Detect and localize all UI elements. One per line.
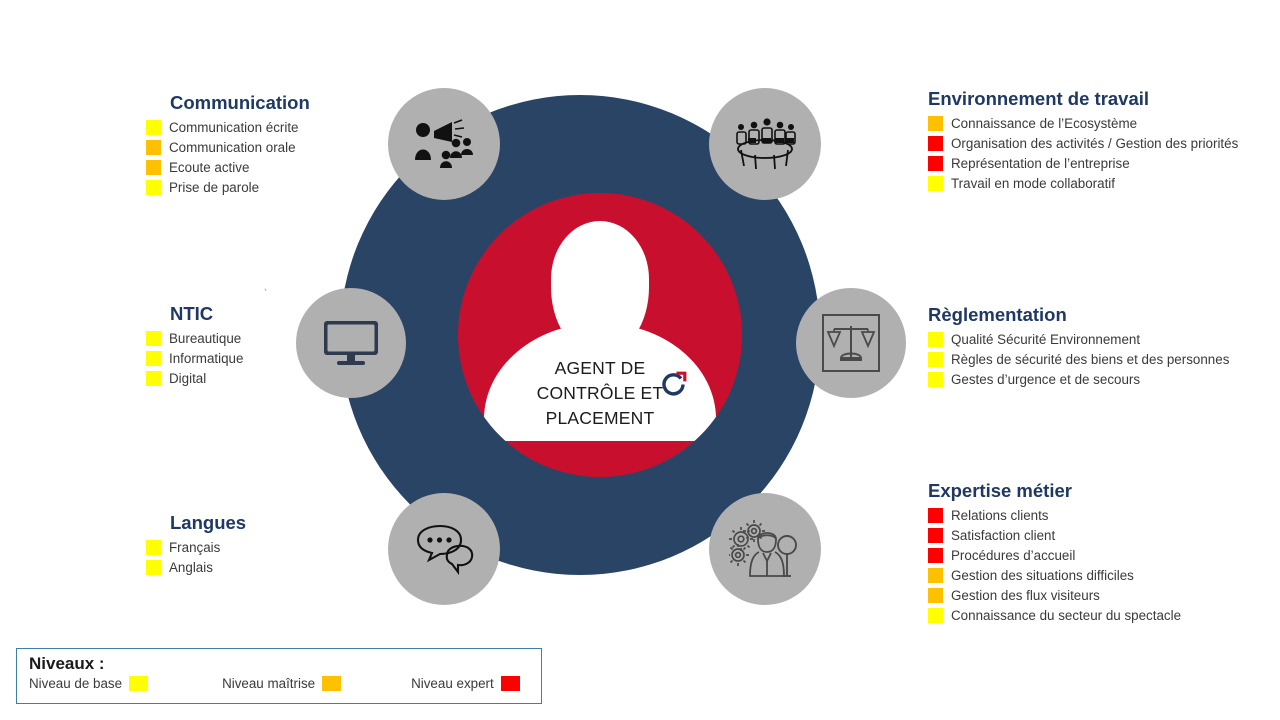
block-reglementation: Règlementation Qualité Sécurité Environn… [928, 304, 1229, 390]
skill-row: Communication écrite [146, 118, 310, 137]
level-swatch [146, 351, 161, 366]
legend-item-base: Niveau de base [29, 676, 148, 691]
node-ntic[interactable] [296, 288, 406, 398]
skill-row: Satisfaction client [928, 526, 1181, 545]
block-title-communication: Communication [170, 92, 310, 114]
skill-label: Gestes d’urgence et de secours [951, 372, 1140, 387]
level-swatch [146, 120, 161, 135]
level-swatch [146, 331, 161, 346]
level-swatch [322, 676, 341, 691]
skill-label: Gestion des situations difficiles [951, 568, 1134, 583]
meeting-table-icon [731, 116, 799, 172]
skill-row: Bureautique [146, 329, 243, 348]
skill-label: Représentation de l’entreprise [951, 156, 1130, 171]
legend-label: Niveau expert [411, 676, 494, 691]
node-environnement[interactable] [709, 88, 821, 200]
skill-row: Ecoute active [146, 158, 310, 177]
legend-item-expert: Niveau expert [411, 676, 520, 691]
level-swatch [928, 588, 943, 603]
level-swatch [146, 160, 161, 175]
level-swatch [146, 371, 161, 386]
skill-label: Connaissance du secteur du spectacle [951, 608, 1181, 623]
skill-label: Qualité Sécurité Environnement [951, 332, 1140, 347]
level-swatch [146, 180, 161, 195]
level-swatch [129, 676, 148, 691]
skill-label: Ecoute active [169, 160, 249, 175]
legend-title: Niveaux : [29, 654, 531, 674]
block-title-langues: Langues [170, 512, 246, 534]
node-langues[interactable] [388, 493, 500, 605]
level-swatch [146, 540, 161, 555]
level-swatch [928, 528, 943, 543]
skill-label: Connaissance de l’Ecosystème [951, 116, 1137, 131]
skill-label: Communication écrite [169, 120, 299, 135]
skill-row: Organisation des activités / Gestion des… [928, 134, 1238, 153]
level-swatch [928, 508, 943, 523]
skill-label: Bureautique [169, 331, 241, 346]
center-role-title: AGENT DE CONTRÔLE ET PLACEMENT [458, 356, 742, 431]
monitor-icon [323, 320, 379, 366]
center-role-line-3: PLACEMENT [458, 406, 742, 431]
level-swatch [928, 156, 943, 171]
legend-label: Niveau maîtrise [222, 676, 315, 691]
node-reglementation[interactable] [796, 288, 906, 398]
skill-row: Connaissance du secteur du spectacle [928, 606, 1181, 625]
skill-label: Informatique [169, 351, 243, 366]
skill-label: Organisation des activités / Gestion des… [951, 136, 1238, 151]
skill-row: Représentation de l’entreprise [928, 154, 1238, 173]
skill-label: Communication orale [169, 140, 296, 155]
level-swatch [928, 176, 943, 191]
skill-label: Travail en mode collaboratif [951, 176, 1115, 191]
skill-row: Anglais [146, 558, 246, 577]
skill-row: Connaissance de l’Ecosystème [928, 114, 1238, 133]
level-swatch [501, 676, 520, 691]
skill-label: Procédures d’accueil [951, 548, 1075, 563]
legend-items: Niveau de base Niveau maîtrise Niveau ex… [29, 676, 531, 691]
scales-of-justice-icon [822, 314, 880, 372]
block-title-expertise: Expertise métier [928, 480, 1181, 502]
skill-label: Relations clients [951, 508, 1049, 523]
block-communication: Communication Communication écrite Commu… [146, 92, 310, 198]
skill-row: Règles de sécurité des biens et des pers… [928, 350, 1229, 369]
skill-label: Digital [169, 371, 206, 386]
skill-row: Prise de parole [146, 178, 310, 197]
center-role-line-2: CONTRÔLE ET [458, 381, 742, 406]
node-communication[interactable] [388, 88, 500, 200]
block-expertise: Expertise métier Relations clients Satis… [928, 480, 1181, 626]
level-swatch [928, 372, 943, 387]
level-swatch [928, 332, 943, 347]
circular-arrow-logo [660, 370, 688, 398]
node-expertise[interactable] [709, 493, 821, 605]
level-swatch [928, 568, 943, 583]
skill-row: Travail en mode collaboratif [928, 174, 1238, 193]
skill-label: Gestion des flux visiteurs [951, 588, 1100, 603]
skill-row: Procédures d’accueil [928, 546, 1181, 565]
level-swatch [928, 608, 943, 623]
infographic-canvas: AGENT DE CONTRÔLE ET PLACEMENT [0, 0, 1280, 720]
skill-label: Règles de sécurité des biens et des pers… [951, 352, 1229, 367]
skill-label: Français [169, 540, 220, 555]
skill-row: Digital [146, 369, 243, 388]
legend-item-maitrise: Niveau maîtrise [222, 676, 341, 691]
level-swatch [928, 352, 943, 367]
block-langues: Langues Français Anglais [146, 512, 246, 578]
expert-gears-icon [729, 519, 801, 579]
skill-row: Qualité Sécurité Environnement [928, 330, 1229, 349]
center-role-circle: AGENT DE CONTRÔLE ET PLACEMENT [458, 193, 742, 477]
level-swatch [928, 116, 943, 131]
megaphone-audience-icon [412, 118, 476, 170]
level-swatch [146, 560, 161, 575]
skill-row: Informatique [146, 349, 243, 368]
block-title-ntic: NTIC [170, 303, 243, 325]
levels-legend: Niveaux : Niveau de base Niveau maîtrise… [16, 648, 542, 704]
legend-label: Niveau de base [29, 676, 122, 691]
center-role-line-1: AGENT DE [458, 356, 742, 381]
block-environnement: Environnement de travail Connaissance de… [928, 88, 1238, 194]
skill-row: Gestes d’urgence et de secours [928, 370, 1229, 389]
skill-label: Satisfaction client [951, 528, 1055, 543]
block-title-reglementation: Règlementation [928, 304, 1229, 326]
stray-mark: ` [262, 288, 268, 300]
level-swatch [928, 548, 943, 563]
speech-bubbles-icon [413, 523, 475, 575]
skill-row: Gestion des flux visiteurs [928, 586, 1181, 605]
level-swatch [146, 140, 161, 155]
skill-row: Communication orale [146, 138, 310, 157]
level-swatch [928, 136, 943, 151]
skill-label: Anglais [169, 560, 213, 575]
skill-row: Relations clients [928, 506, 1181, 525]
block-title-environnement: Environnement de travail [928, 88, 1238, 110]
skill-label: Prise de parole [169, 180, 259, 195]
skill-row: Gestion des situations difficiles [928, 566, 1181, 585]
block-ntic: NTIC Bureautique Informatique Digital [146, 303, 243, 389]
skill-row: Français [146, 538, 246, 557]
